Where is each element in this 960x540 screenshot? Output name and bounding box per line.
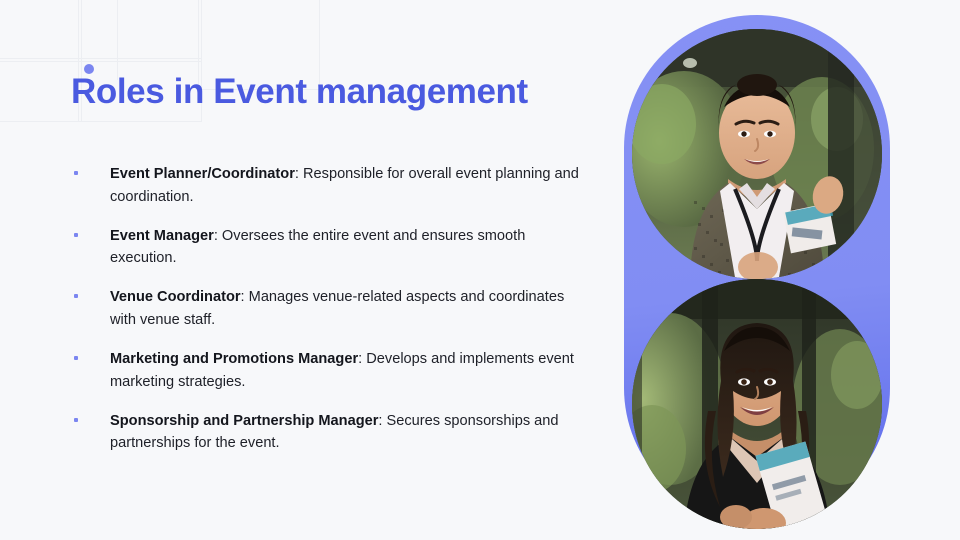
list-item-lead: Venue Coordinator bbox=[110, 289, 241, 305]
list-item: Event Manager: Oversees the entire event… bbox=[71, 225, 591, 270]
bullet-dot-icon bbox=[74, 418, 78, 422]
grid-cell bbox=[0, 0, 82, 62]
photo-bottom-image bbox=[632, 279, 882, 529]
list-item-lead: Event Manager bbox=[110, 228, 214, 244]
list-item: Venue Coordinator: Manages venue-related… bbox=[71, 286, 591, 331]
bullet-dot-icon bbox=[74, 356, 78, 360]
bullet-dot-icon bbox=[74, 171, 78, 175]
list-item-text: Event Manager: Oversees the entire event… bbox=[110, 228, 525, 267]
photo-top bbox=[632, 29, 882, 279]
photo-pill-frame bbox=[624, 15, 890, 521]
grid-cell bbox=[78, 0, 202, 62]
bullet-list: Event Planner/Coordinator: Responsible f… bbox=[71, 163, 591, 455]
list-item-text: Venue Coordinator: Manages venue-related… bbox=[110, 289, 564, 328]
bullet-dot-icon bbox=[74, 233, 78, 237]
photo-bottom bbox=[632, 279, 882, 529]
list-item-lead: Event Planner/Coordinator bbox=[110, 166, 295, 182]
grid-line bbox=[117, 0, 118, 80]
grid-cell bbox=[0, 58, 82, 122]
list-item: Event Planner/Coordinator: Responsible f… bbox=[71, 163, 591, 208]
list-item-lead: Sponsorship and Partnership Manager bbox=[110, 413, 378, 429]
list-item: Sponsorship and Partnership Manager: Sec… bbox=[71, 410, 591, 455]
page-title: Roles in Event management bbox=[71, 72, 528, 112]
slide-canvas: Roles in Event management Event Planner/… bbox=[0, 0, 960, 540]
list-item-text: Sponsorship and Partnership Manager: Sec… bbox=[110, 413, 559, 452]
list-item-lead: Marketing and Promotions Manager bbox=[110, 351, 358, 367]
list-item: Marketing and Promotions Manager: Develo… bbox=[71, 348, 591, 393]
photo-top-image bbox=[632, 29, 882, 279]
bullet-dot-icon bbox=[74, 294, 78, 298]
woman-long-dark-hair-illustration bbox=[632, 279, 882, 529]
list-item-text: Event Planner/Coordinator: Responsible f… bbox=[110, 166, 579, 205]
list-item-text: Marketing and Promotions Manager: Develo… bbox=[110, 351, 574, 390]
woman-checked-blazer-illustration bbox=[632, 29, 882, 279]
